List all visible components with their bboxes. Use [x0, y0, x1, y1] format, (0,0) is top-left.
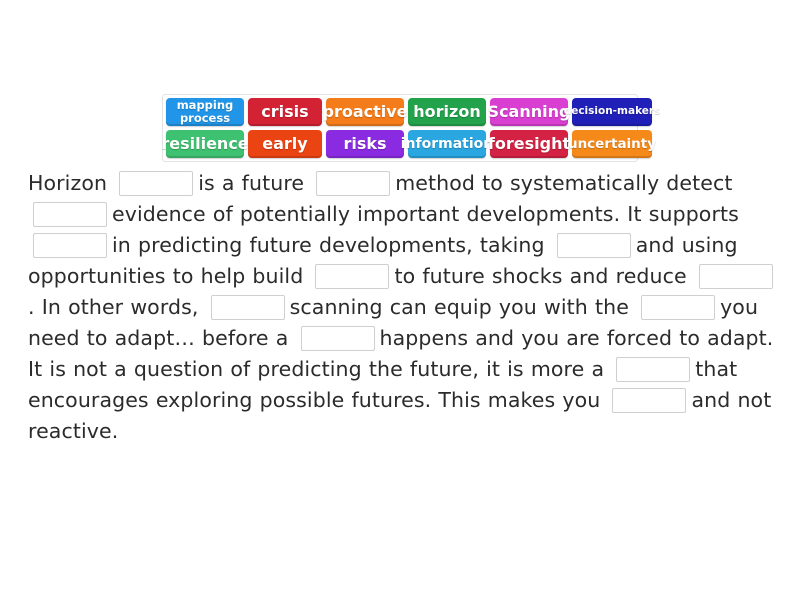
word-tile-uncertainty[interactable]: uncertainty	[572, 130, 652, 158]
word-tile-label: proactive	[322, 104, 407, 121]
passage-text: in predicting future developments, takin…	[112, 233, 552, 257]
word-tile-label: uncertainty	[568, 137, 656, 151]
cloze-passage: Horizon is a future method to systematic…	[28, 168, 784, 447]
passage-text: Horizon	[28, 171, 114, 195]
word-tile-label: horizon	[413, 104, 480, 121]
word-tile-information[interactable]: information	[408, 130, 486, 158]
word-tile-horizon[interactable]: horizon	[408, 98, 486, 126]
word-tile-label: crisis	[261, 104, 308, 121]
word-tile-decision-makers[interactable]: decision-makers	[572, 98, 652, 126]
word-tile-crisis[interactable]: crisis	[248, 98, 322, 126]
word-tile-label: risks	[343, 136, 386, 153]
blank-7[interactable]	[699, 264, 773, 289]
word-tile-label: resilience	[161, 136, 248, 153]
word-tile-foresight[interactable]: foresight	[490, 130, 568, 158]
word-tile-label: foresight	[488, 136, 570, 153]
word-tile-label: decision-makers	[564, 106, 661, 117]
passage-text: evidence of potentially important develo…	[112, 202, 746, 226]
word-tile-label: mapping process	[170, 99, 240, 125]
word-tile-label: information	[401, 137, 494, 152]
word-tile-early[interactable]: early	[248, 130, 322, 158]
passage-text: scanning can equip you with the	[290, 295, 636, 319]
passage-text: . In other words,	[28, 295, 206, 319]
blank-12[interactable]	[612, 388, 686, 413]
word-tile-resilience[interactable]: resilience	[166, 130, 244, 158]
blank-5[interactable]	[557, 233, 631, 258]
word-tile-mapping-process[interactable]: mapping process	[166, 98, 244, 126]
word-bank: mapping process crisis proactive horizon…	[162, 94, 638, 162]
word-tile-scanning[interactable]: Scanning	[490, 98, 568, 126]
blank-10[interactable]	[301, 326, 375, 351]
word-bank-row-1: mapping process crisis proactive horizon…	[166, 98, 634, 126]
word-tile-risks[interactable]: risks	[326, 130, 404, 158]
blank-11[interactable]	[616, 357, 690, 382]
blank-9[interactable]	[641, 295, 715, 320]
blank-8[interactable]	[211, 295, 285, 320]
blank-6[interactable]	[315, 264, 389, 289]
word-tile-label: Scanning	[488, 104, 571, 121]
passage-text: is a future	[198, 171, 311, 195]
blank-1[interactable]	[119, 171, 193, 196]
word-tile-proactive[interactable]: proactive	[326, 98, 404, 126]
passage-text: to future shocks and reduce	[394, 264, 693, 288]
word-bank-row-2: resilience early risks information fores…	[166, 130, 634, 158]
passage-text: method to systematically detect	[395, 171, 739, 195]
blank-2[interactable]	[316, 171, 390, 196]
blank-3[interactable]	[33, 202, 107, 227]
word-tile-label: early	[262, 136, 307, 153]
blank-4[interactable]	[33, 233, 107, 258]
